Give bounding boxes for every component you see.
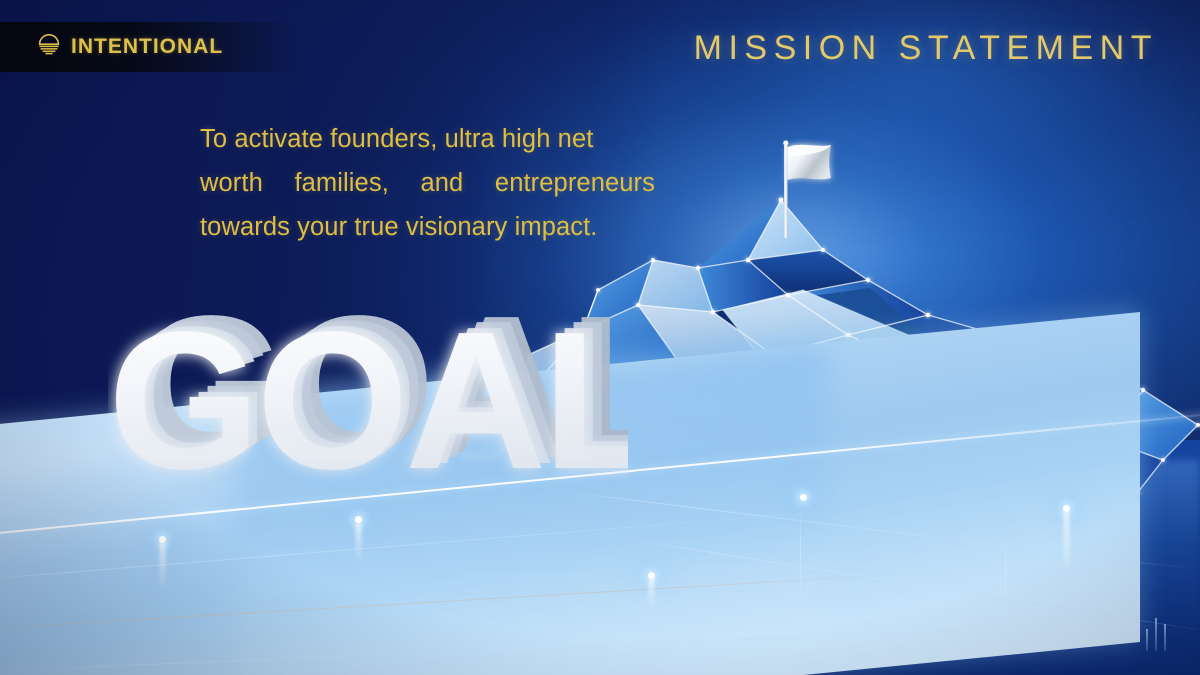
mission-line-2-word: families,: [294, 161, 388, 205]
three-bars-mark-icon: [1142, 615, 1178, 651]
brand-logo[interactable]: INTENTIONAL: [36, 31, 223, 62]
slide-canvas: GOAL GOAL GOAL GOAL GOAL: [0, 0, 1200, 675]
page-title: MISSION STATEMENT: [694, 29, 1158, 68]
sunset-dome-icon: [36, 31, 62, 62]
mission-line-2-word: and: [420, 161, 463, 205]
mission-line-2-word: worth: [200, 161, 263, 205]
vignette-overlay: [0, 0, 1200, 675]
mission-line-1: To activate founders, ultra high net: [200, 117, 656, 161]
mission-line-2: worth families, and entrepreneurs: [200, 161, 655, 205]
mission-line-2-word: entrepreneurs: [495, 161, 655, 205]
brand-name: INTENTIONAL: [71, 35, 223, 59]
mission-statement-text: To activate founders, ultra high net wor…: [200, 117, 656, 249]
mission-line-3: towards your true visionary impact.: [200, 205, 656, 249]
